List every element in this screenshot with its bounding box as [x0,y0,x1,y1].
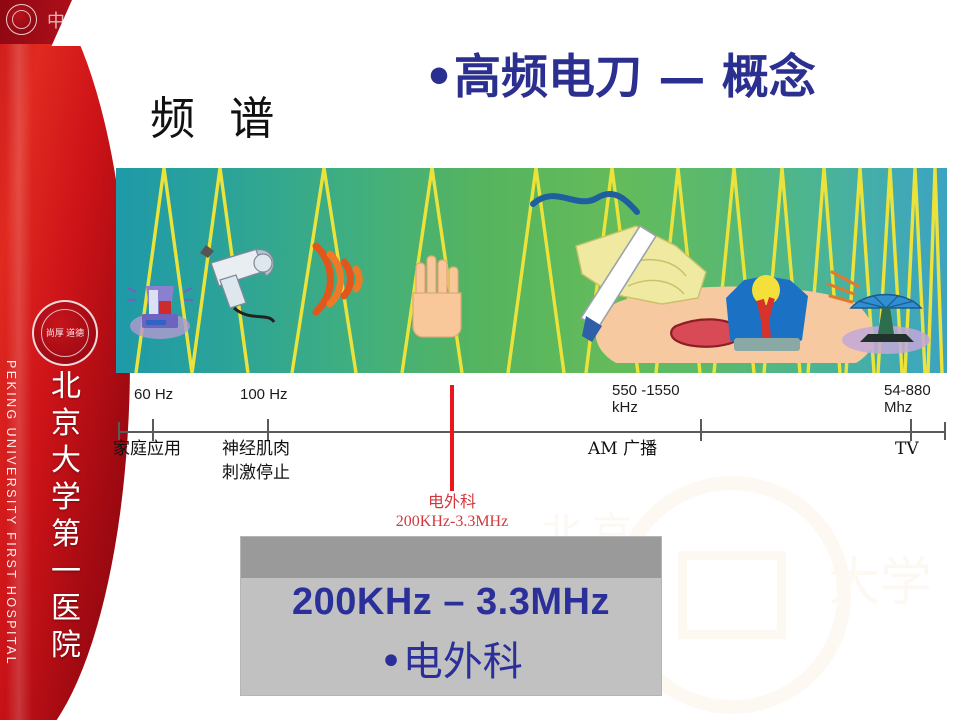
axis-label-60hz: 60 Hz [134,386,173,403]
banner-chinese-name: 北京大学第一医院 [40,368,92,664]
page-subtitle: 频 谱 [150,96,284,141]
axis-use-nerve-line2: 刺激停止 [222,462,290,484]
axis-use-am: AM 广播 [588,438,657,460]
electrosurgery-caption-range: 200KHz-3.3MHz [352,512,552,531]
electrosurgery-caption: 电外科 200KHz-3.3MHz [352,492,552,531]
slide: 北京 大学 尚厚 道德 PEKING UNIVERSITY FIRST HOSP… [0,0,960,720]
hospital-crest-icon: 尚厚 道德 [32,300,98,366]
seal-inner-ring [12,10,31,29]
electrosurgery-caption-name: 电外科 [352,492,552,512]
seal-icon [6,4,37,35]
watermark-bar-icon [678,551,786,639]
hand-icon [413,256,461,337]
axis-label-khz-value: 550 -1550 [612,382,680,399]
page-title: •高频电刀 — 概念 [424,54,816,101]
spectrum-illustration [116,168,947,373]
axis-tick-am [700,419,702,441]
axis-use-nerve-line1: 神经肌肉 [222,438,290,460]
frequency-callout-box: 200KHz – 3.3MHz •电外科 [241,537,661,695]
spectrum-graphics [116,168,947,373]
callout-label-text: •电外科 [241,629,661,687]
callout-range-text: 200KHz – 3.3MHz [241,581,661,624]
axis-label-100hz: 100 Hz [240,386,288,403]
axis-label-mhz-value: 54-880 [884,382,931,399]
crest-glyph: 尚厚 道德 [43,328,87,338]
watermark-text-right: 大学 [828,540,932,615]
axis-use-home: 家庭应用 [113,438,181,460]
callout-header-strip [241,537,661,578]
association-mark: 中华医学会 [6,4,157,35]
axis-use-tv: TV [895,438,919,460]
radio-announcer-icon [726,275,808,351]
association-name: 中华医学会 [47,7,157,33]
frequency-axis [118,431,946,433]
axis-label-mhz-unit: Mhz [884,399,912,416]
power-drill-icon [200,245,274,322]
axis-tick-end [944,422,946,440]
axis-label-khz-unit: kHz [612,399,638,416]
electrosurgery-marker-line [450,385,454,491]
banner-english-name: PEKING UNIVERSITY FIRST HOSPITAL [4,360,18,610]
electrosurgical-pencil-icon [533,194,637,212]
